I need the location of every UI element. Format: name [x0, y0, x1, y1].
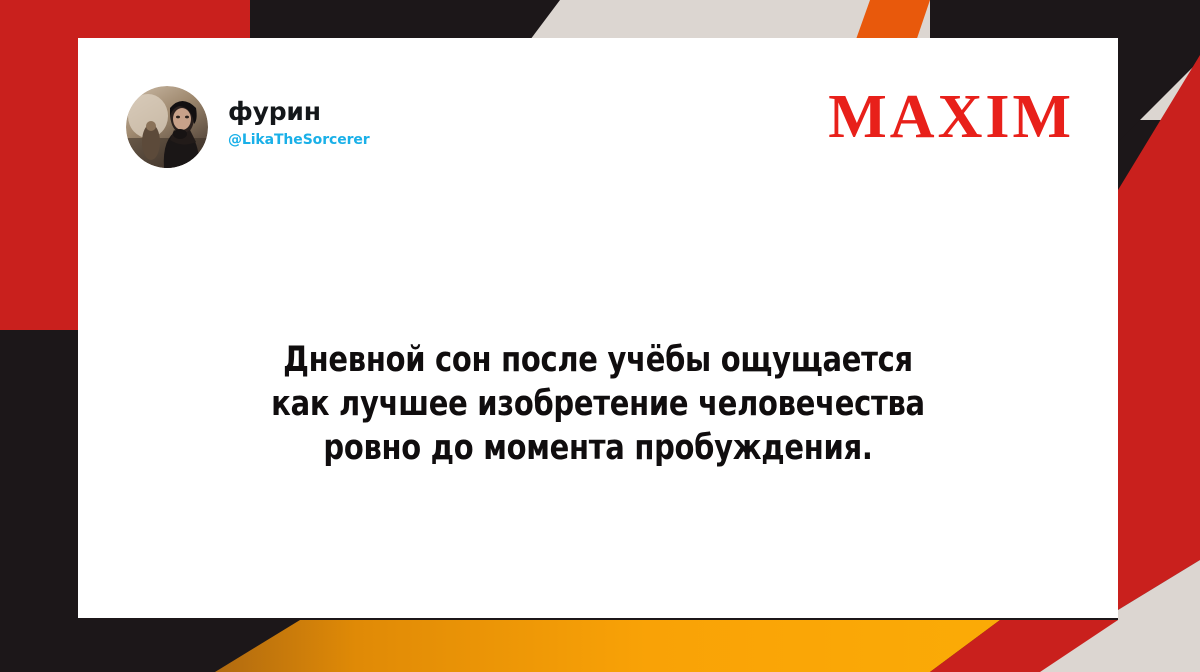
quote-text: Дневной сон после учёбы ощущается как лу…: [78, 338, 1118, 470]
author-handle[interactable]: @LikaTheSorcerer: [228, 132, 370, 148]
bg-shape-orange-bottom: [215, 620, 1000, 672]
avatar-image: [126, 86, 208, 168]
author-identity: фурин @LikaTheSorcerer: [228, 99, 370, 148]
avatar: [126, 86, 208, 168]
quote-line-2: как лучшее изобретение человечества: [156, 382, 1039, 426]
maxim-logo: MAXIM: [828, 86, 1074, 148]
card-header: фурин @LikaTheSorcerer MAXIM: [78, 38, 1118, 188]
poster-canvas: фурин @LikaTheSorcerer MAXIM Дневной сон…: [0, 0, 1200, 672]
bg-shape-red-notch: [200, 0, 250, 40]
quote-line-1: Дневной сон после учёбы ощущается: [156, 338, 1039, 382]
author-display-name: фурин: [228, 99, 370, 125]
quote-card: фурин @LikaTheSorcerer MAXIM Дневной сон…: [78, 38, 1118, 618]
quote-line-3: ровно до момента пробуждения.: [156, 426, 1039, 470]
